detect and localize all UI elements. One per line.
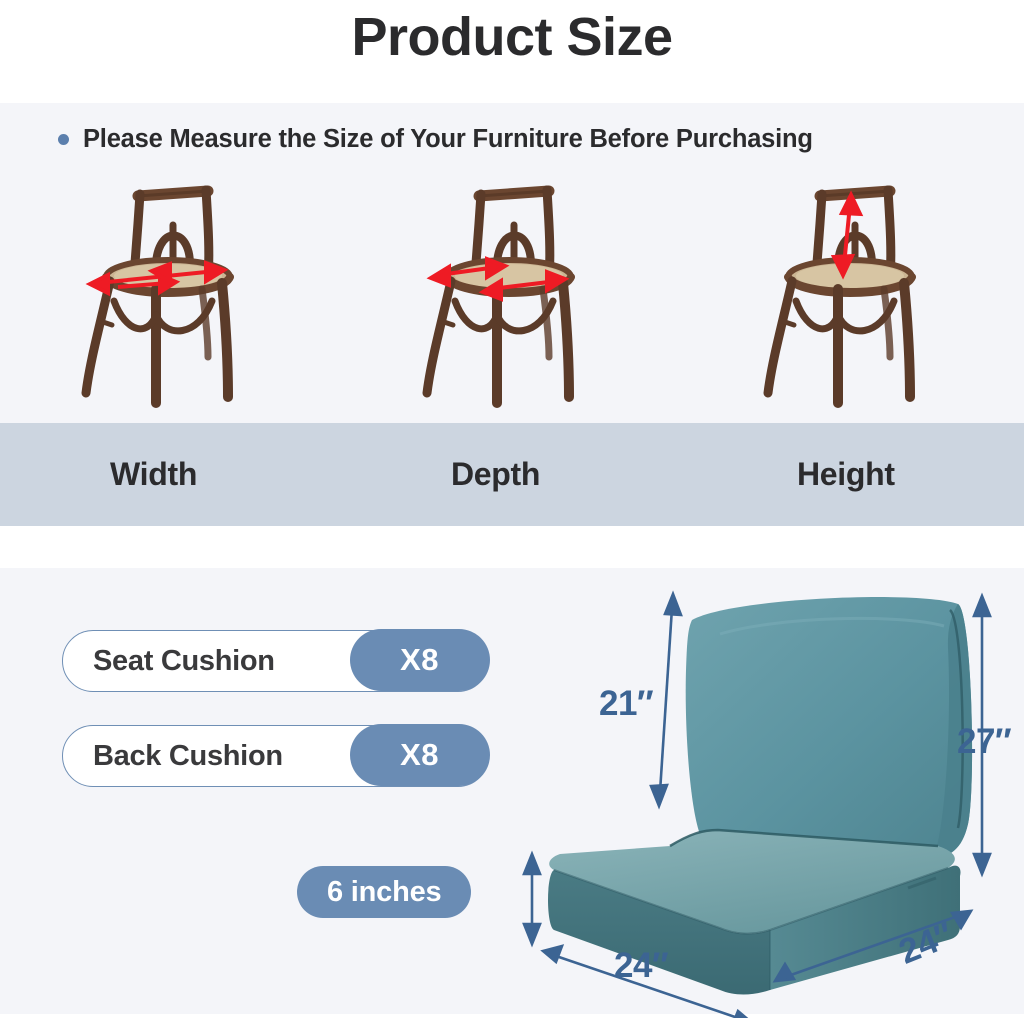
chair-depth-icon (397, 165, 627, 423)
chair-height-icon (738, 165, 968, 423)
dimension-label-seat-width: 24″ (614, 946, 668, 986)
chair-depth (341, 165, 682, 423)
measure-note-text: Please Measure the Size of Your Furnitur… (83, 125, 813, 154)
label-width-text: Width (110, 456, 197, 493)
label-width: Width (0, 423, 341, 526)
seat-cushion-label: Seat Cushion (63, 645, 275, 678)
seat-cushion-art (548, 830, 961, 995)
back-cushion-art (686, 597, 972, 865)
label-depth: Depth (341, 423, 682, 526)
product-size-infographic: Product Size Please Measure the Size of … (0, 0, 1024, 1022)
chair-width-icon (56, 165, 286, 423)
label-height: Height (682, 423, 1023, 526)
bullet-icon (58, 134, 69, 145)
back-cushion-pill: Back Cushion X8 (62, 725, 489, 787)
chair-height (682, 165, 1023, 423)
chair-width (0, 165, 341, 423)
back-cushion-label: Back Cushion (63, 740, 283, 773)
label-depth-text: Depth (451, 456, 540, 493)
thickness-badge: 6 inches (297, 866, 471, 918)
dimension-label-back-height: 21″ (599, 684, 653, 724)
back-cushion-count: X8 (350, 724, 490, 786)
dimension-label-total-height: 27″ (957, 722, 1011, 762)
page-title: Product Size (0, 6, 1024, 68)
seat-cushion-pill: Seat Cushion X8 (62, 630, 489, 692)
measure-note: Please Measure the Size of Your Furnitur… (58, 125, 813, 154)
chair-illustrations (0, 165, 1024, 423)
measure-panel: Please Measure the Size of Your Furnitur… (0, 103, 1024, 525)
dimension-label-band: Width Depth Height (0, 423, 1024, 526)
seat-cushion-count: X8 (350, 629, 490, 691)
label-height-text: Height (797, 456, 895, 493)
